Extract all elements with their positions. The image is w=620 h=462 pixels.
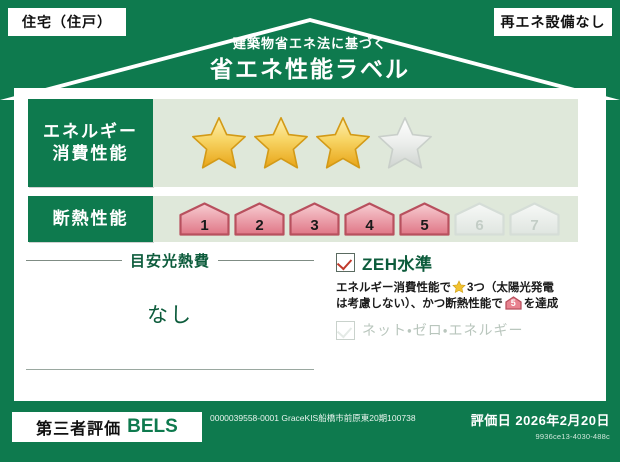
net-zero-checkbox-icon: [336, 321, 355, 340]
insulation-level-inline-badge: 5: [505, 296, 522, 310]
insulation-badge-filled: 4: [343, 201, 396, 237]
insulation-badge-filled: 1: [178, 201, 231, 237]
bels-badge: 第三者評価 BELS: [12, 412, 202, 442]
insulation-badge-empty: 7: [508, 201, 561, 237]
insulation-badge-filled: 5: [398, 201, 451, 237]
evaluation-date-value: 2026年2月20日: [515, 413, 610, 428]
zeh-checkbox-icon: [336, 253, 355, 272]
star-empty-icon: [377, 115, 433, 171]
insulation-badge-number: 3: [288, 217, 341, 235]
bels-logo-text: BELS: [127, 416, 178, 438]
inline-badge-number: 5: [505, 296, 522, 310]
energy-label-line2: 消費性能: [53, 143, 129, 165]
energy-performance-row: エネルギー 消費性能: [28, 99, 578, 187]
certificate-id: 0000039558-0001 GraceKIS船橋市前原東20期100738: [210, 412, 440, 424]
insulation-label-text: 断熱性能: [53, 208, 129, 230]
zeh-title-label: ZEH水準: [362, 250, 433, 275]
insulation-performance-body: 1234567: [153, 196, 578, 242]
net-zero-label: ネット・ゼロ・エネルギー: [362, 320, 524, 340]
zeh-description: エネルギー消費性能で 3つ（太陽光発電 は考慮しない）、かつ断熱性能で 5 を達…: [336, 280, 594, 312]
utility-cost-block: 目安光熱費 なし: [26, 250, 314, 370]
insulation-badge-number: 4: [343, 217, 396, 235]
energy-performance-body: [153, 99, 578, 187]
renewable-equipment-tag: 再エネ設備なし: [494, 8, 612, 36]
insulation-performance-row: 断熱性能 1234567: [28, 196, 578, 242]
star-icon: [452, 280, 466, 294]
insulation-badge-number: 7: [508, 217, 561, 235]
rule-right: [218, 260, 314, 261]
bels-japanese-label: 第三者評価: [36, 415, 121, 439]
evaluation-date: 評価日 2026年2月20日: [471, 410, 610, 429]
label-footer: 第三者評価 BELS 0000039558-0001 GraceKIS船橋市前原…: [0, 406, 620, 462]
evaluation-hash: 9936ce13-4030-488c: [471, 432, 610, 441]
evaluation-date-label: 評価日: [471, 413, 512, 428]
energy-label-line1: エネルギー: [43, 121, 138, 143]
star-filled-icon: [315, 115, 371, 171]
evaluation-date-block: 評価日 2026年2月20日 9936ce13-4030-488c: [471, 410, 610, 441]
utility-cost-title: 目安光熱費: [130, 250, 210, 271]
insulation-badge-filled: 3: [288, 201, 341, 237]
insulation-performance-label: 断熱性能: [28, 196, 153, 242]
insulation-badge-number: 6: [453, 217, 506, 235]
rule-left: [26, 260, 122, 261]
zeh-desc-part1: エネルギー消費性能で: [336, 282, 451, 294]
zeh-standard-row: ZEH水準: [336, 250, 594, 275]
zeh-block: ZEH水準 エネルギー消費性能で 3つ（太陽光発電 は考慮しない）、かつ断熱性能…: [336, 250, 594, 340]
zeh-desc-part2: 3つ（太陽光発電: [467, 282, 554, 294]
zeh-desc-part4: を達成: [524, 298, 559, 310]
insulation-badge-filled: 2: [233, 201, 286, 237]
building-type-tag: 住宅（住戸）: [8, 8, 126, 36]
star-filled-icon: [191, 115, 247, 171]
star-filled-icon: [253, 115, 309, 171]
utility-cost-heading: 目安光熱費: [26, 250, 314, 271]
net-zero-energy-row: ネット・ゼロ・エネルギー: [336, 320, 594, 340]
star-rating: [191, 99, 433, 187]
utility-cost-value: なし: [26, 299, 314, 329]
utility-cost-divider: [26, 369, 314, 370]
insulation-badge-number: 1: [178, 217, 231, 235]
insulation-badge-number: 5: [398, 217, 451, 235]
label-frame: 建築物省エネ法に基づく 省エネ性能ラベル 住宅（住戸） 再エネ設備なし エネルギ…: [0, 0, 620, 462]
insulation-level-badges: 1234567: [178, 196, 561, 242]
energy-performance-label: エネルギー 消費性能: [28, 99, 153, 187]
insulation-badge-empty: 6: [453, 201, 506, 237]
insulation-badge-number: 2: [233, 217, 286, 235]
zeh-desc-part3: は考慮しない）、かつ断熱性能で: [336, 298, 503, 310]
